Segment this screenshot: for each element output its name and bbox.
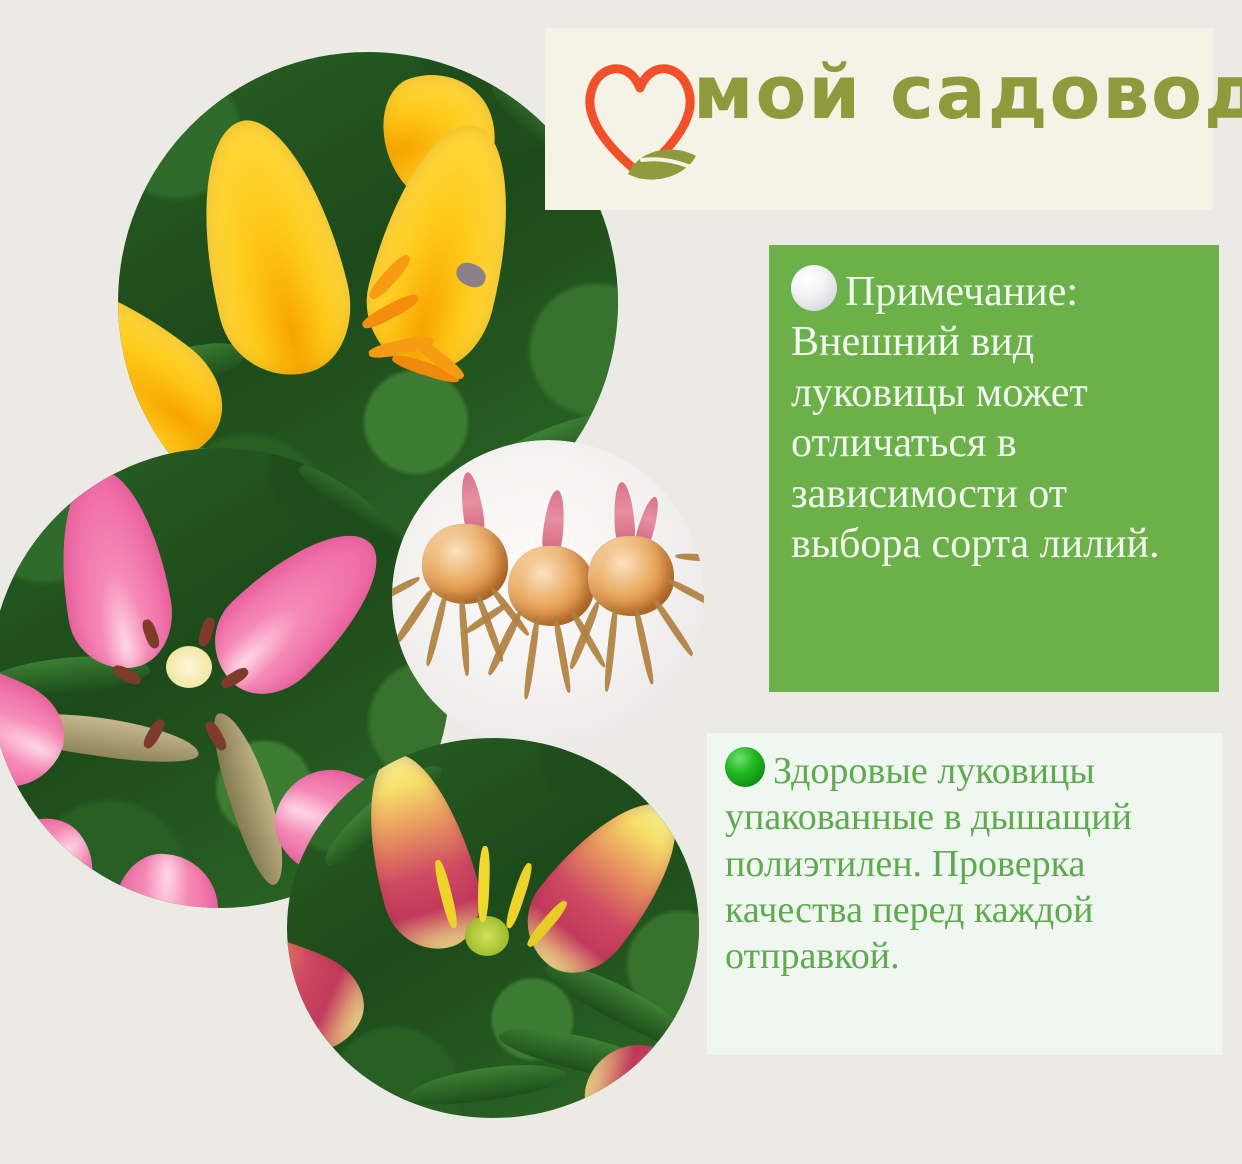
note-secondary-text: Здоровые луковицы упакованные в дышащий … bbox=[725, 747, 1204, 980]
lily-bulbs-photo bbox=[392, 440, 704, 752]
note-primary: Примечание: Внешний вид луковицы может о… bbox=[769, 245, 1219, 692]
note-secondary: Здоровые луковицы упакованные в дышащий … bbox=[707, 733, 1222, 1055]
flower-center bbox=[465, 916, 509, 956]
note-secondary-body: Здоровые луковицы упакованные в дышащий … bbox=[725, 750, 1132, 977]
promo-banner: мой садовод Примечание: Внешний вид луко… bbox=[0, 0, 1242, 1164]
brand-logo[interactable]: мой садовод bbox=[545, 28, 1213, 210]
white-circle-bullet-icon bbox=[791, 265, 837, 311]
brand-name: мой садовод bbox=[693, 50, 1242, 136]
note-primary-text: Примечание: Внешний вид луковицы может о… bbox=[791, 265, 1197, 569]
logo-mark bbox=[580, 48, 700, 188]
bicolor-lily-photo bbox=[287, 738, 699, 1118]
note-primary-body: Примечание: Внешний вид луковицы может о… bbox=[791, 269, 1160, 567]
green-circle-bullet-icon bbox=[725, 747, 765, 787]
flower-center bbox=[166, 646, 212, 688]
